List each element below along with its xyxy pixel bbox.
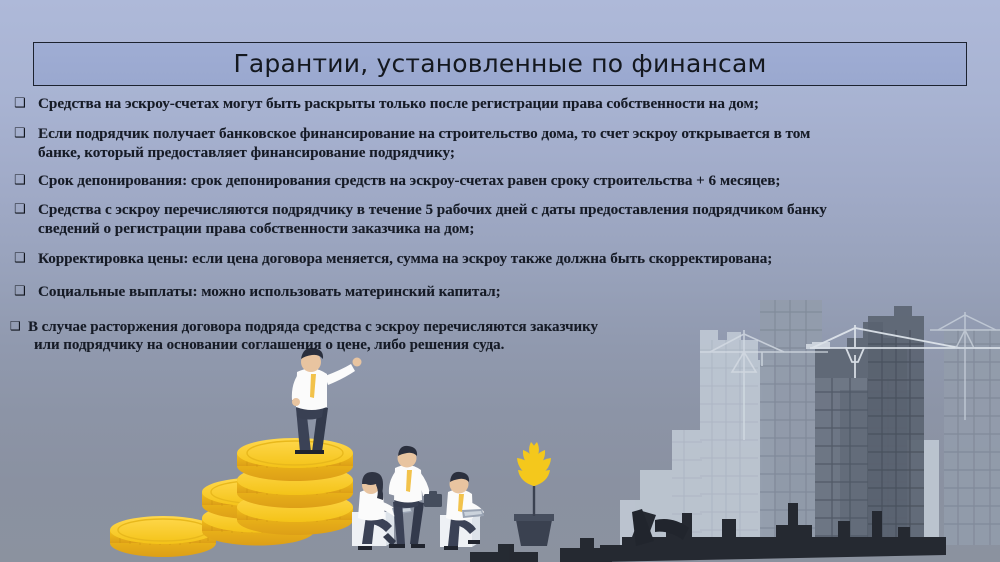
figure-man-briefcase [389, 446, 442, 548]
figure-man-sitting-laptop [440, 472, 484, 550]
bullet-square-icon: ❑ [14, 97, 38, 112]
slide-title-box: Гарантии, установленные по финансам [33, 42, 967, 86]
coin-stack-1 [110, 516, 216, 557]
list-item-line: В случае расторжения договора подряда ср… [28, 318, 598, 337]
figure-woman-laptop [352, 472, 412, 550]
list-item-text: Если подрядчик получает банковское финан… [38, 125, 810, 163]
bullet-square-icon: ❑ [14, 174, 38, 189]
list-item-line: банке, который предоставляет финансирова… [38, 144, 810, 163]
list-item-line: Срок депонирования: срок депонирования с… [38, 172, 780, 191]
list-item-line: Средства на эскроу-счетах могут быть рас… [38, 95, 759, 114]
list-item-line: Социальные выплаты: можно использовать м… [38, 283, 501, 302]
bullet-list: ❑ Средства на эскроу-счетах могут быть р… [0, 95, 1000, 366]
list-item-line: Если подрядчик получает банковское финан… [38, 125, 810, 144]
list-item-line: или подрядчику на основании соглашения о… [28, 336, 598, 355]
skyline-light-scaffolding [672, 340, 758, 545]
bullet-square-icon: ❑ [14, 285, 38, 300]
list-item: ❑ Средства на эскроу-счетах могут быть р… [0, 95, 1000, 114]
list-item-text: Корректировка цены: если цена договора м… [38, 250, 772, 269]
coin-stack-3 [237, 438, 353, 535]
coin-stack-2 [202, 478, 314, 546]
list-item-text: Средства с эскроу перечисляются подрядчи… [38, 201, 827, 239]
list-item-text: Срок депонирования: срок депонирования с… [38, 172, 780, 191]
skyline-main-tower-scaffolding [815, 378, 907, 545]
excavator-silhouette [632, 509, 689, 546]
golden-plant [514, 442, 554, 546]
list-item-text: Социальные выплаты: можно использовать м… [38, 283, 501, 302]
list-item: ❑ Социальные выплаты: можно использовать… [0, 283, 1000, 302]
list-item-text: В случае расторжения договора подряда ср… [28, 318, 598, 355]
list-item-line: Корректировка цены: если цена договора м… [38, 250, 772, 269]
foreground-silhouette [470, 503, 946, 562]
page-title: Гарантии, установленные по финансам [233, 51, 766, 76]
bullet-square-icon: ❑ [14, 127, 38, 142]
list-item-line: сведений о регистрации права собственнос… [38, 220, 827, 239]
bullet-square-icon: ❑ [14, 252, 38, 267]
presentation-slide: Гарантии, установленные по финансам ❑ Ср… [0, 0, 1000, 562]
list-item: ❑ Корректировка цены: если цена договора… [0, 250, 1000, 269]
list-item: ❑ Если подрядчик получает банковское фин… [0, 125, 1000, 163]
bullet-square-icon: ❑ [10, 320, 28, 334]
list-item: ❑ В случае расторжения договора подряда … [0, 318, 1000, 355]
bullet-square-icon: ❑ [14, 203, 38, 218]
list-item: ❑ Срок депонирования: срок депонирования… [0, 172, 1000, 191]
coin-stack-group [110, 438, 353, 557]
list-item-text: Средства на эскроу-счетах могут быть рас… [38, 95, 759, 114]
list-item: ❑ Средства с эскроу перечисляются подряд… [0, 201, 1000, 239]
list-item-line: Средства с эскроу перечисляются подрядчи… [38, 201, 827, 220]
